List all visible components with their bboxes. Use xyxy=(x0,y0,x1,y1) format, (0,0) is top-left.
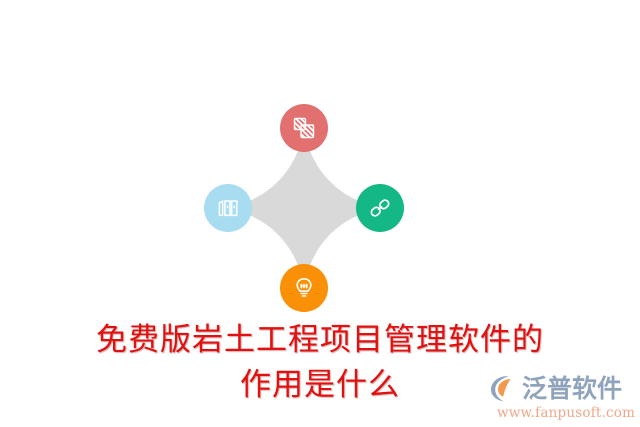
fanpu-logo-mark-icon xyxy=(489,374,519,403)
watermark-brand-row: 泛普软件 xyxy=(489,374,635,403)
node-copy-documents[interactable] xyxy=(280,104,328,152)
four-node-diagram xyxy=(196,100,412,316)
node-books[interactable] xyxy=(204,184,252,232)
page-canvas: 免费版岩土工程项目管理软件的 作用是什么 泛普软件 www.fanpusoft.… xyxy=(0,0,640,427)
books-icon xyxy=(217,197,239,219)
watermark-brand-text: 泛普软件 xyxy=(522,374,622,403)
lightbulb-icon xyxy=(292,276,316,300)
copy-documents-icon xyxy=(292,116,316,140)
node-lightbulb[interactable] xyxy=(280,264,328,312)
page-title-line-1: 免费版岩土工程项目管理软件的 xyxy=(0,318,640,363)
watermark-logo: 泛普软件 www.fanpusoft.com xyxy=(489,374,635,422)
watermark-url-text: www.fanpusoft.com xyxy=(489,404,635,422)
chain-link-icon xyxy=(368,196,392,220)
node-chain-link[interactable] xyxy=(356,184,404,232)
